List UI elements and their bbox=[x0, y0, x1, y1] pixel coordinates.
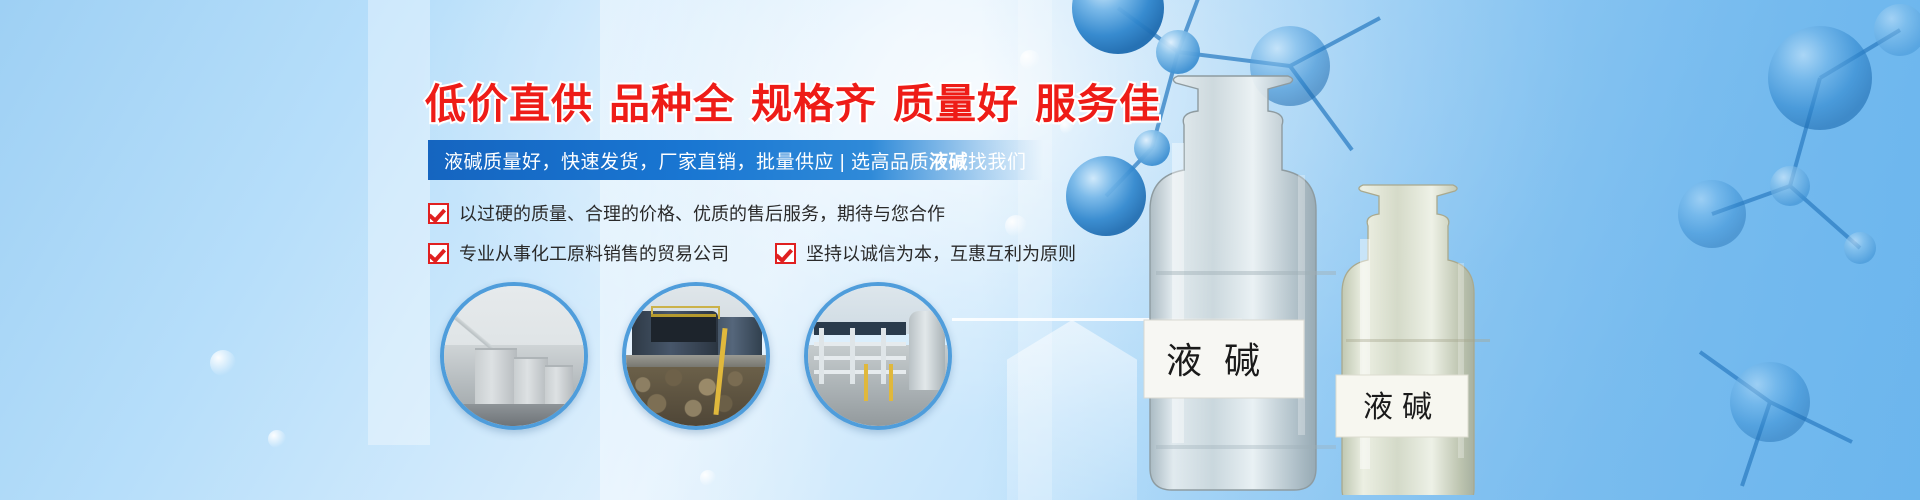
promo-banner: 液碱 液碱 低价直供品种全规格齐质量好服务佳 液碱质量好，快速发货，厂家直销，批… bbox=[0, 0, 1920, 500]
headline-word: 低价直供 bbox=[425, 81, 593, 127]
feature-text: 专业从事化工原料销售的贸易公司 bbox=[459, 240, 729, 266]
photo-thumbnail[interactable] bbox=[804, 282, 952, 430]
content-column: 低价直供品种全规格齐质量好服务佳 液碱质量好，快速发货，厂家直销，批量供应 | … bbox=[0, 0, 1160, 500]
photo-thumbnail[interactable] bbox=[622, 282, 770, 430]
subheadline-tail: 找我们 bbox=[968, 147, 1027, 174]
headline-word: 质量好 bbox=[893, 81, 1019, 127]
headline-word: 服务佳 bbox=[1035, 81, 1161, 127]
check-icon bbox=[428, 243, 449, 264]
product-bottles: 液碱 液碱 bbox=[1110, 25, 1730, 495]
bottle-small-label: 液碱 bbox=[1363, 390, 1441, 425]
check-icon bbox=[775, 243, 796, 264]
bottle-small: 液碱 bbox=[1336, 185, 1490, 495]
photo-strip bbox=[440, 282, 952, 430]
headline: 低价直供品种全规格齐质量好服务佳 bbox=[425, 70, 1177, 130]
feature-row: 专业从事化工原料销售的贸易公司 坚持以诚信为本，互惠互利为原则 bbox=[428, 240, 1076, 266]
bottle-large: 液碱 bbox=[1144, 76, 1336, 490]
photo-thumbnail[interactable] bbox=[440, 282, 588, 430]
headline-word: 规格齐 bbox=[751, 81, 877, 127]
feature-item: 专业从事化工原料销售的贸易公司 bbox=[428, 240, 729, 266]
feature-item: 以过硬的质量、合理的价格、优质的售后服务，期待与您合作 bbox=[428, 200, 945, 226]
bottle-large-label: 液碱 bbox=[1166, 341, 1282, 382]
subheadline-lead: 液碱质量好，快速发货，厂家直销，批量供应 | 选高品质 bbox=[444, 147, 929, 174]
feature-text: 坚持以诚信为本，互惠互利为原则 bbox=[806, 240, 1076, 266]
feature-item: 坚持以诚信为本，互惠互利为原则 bbox=[775, 240, 1076, 266]
feature-text: 以过硬的质量、合理的价格、优质的售后服务，期待与您合作 bbox=[459, 200, 945, 226]
subheadline-bar: 液碱质量好，快速发货，厂家直销，批量供应 | 选高品质液碱找我们 bbox=[428, 140, 1043, 180]
feature-bullets: 以过硬的质量、合理的价格、优质的售后服务，期待与您合作 专业从事化工原料销售的贸… bbox=[428, 200, 1076, 280]
headline-word: 品种全 bbox=[609, 81, 735, 127]
feature-row: 以过硬的质量、合理的价格、优质的售后服务，期待与您合作 bbox=[428, 200, 1076, 226]
check-icon bbox=[428, 203, 449, 224]
subheadline-highlight: 液碱 bbox=[929, 147, 968, 174]
